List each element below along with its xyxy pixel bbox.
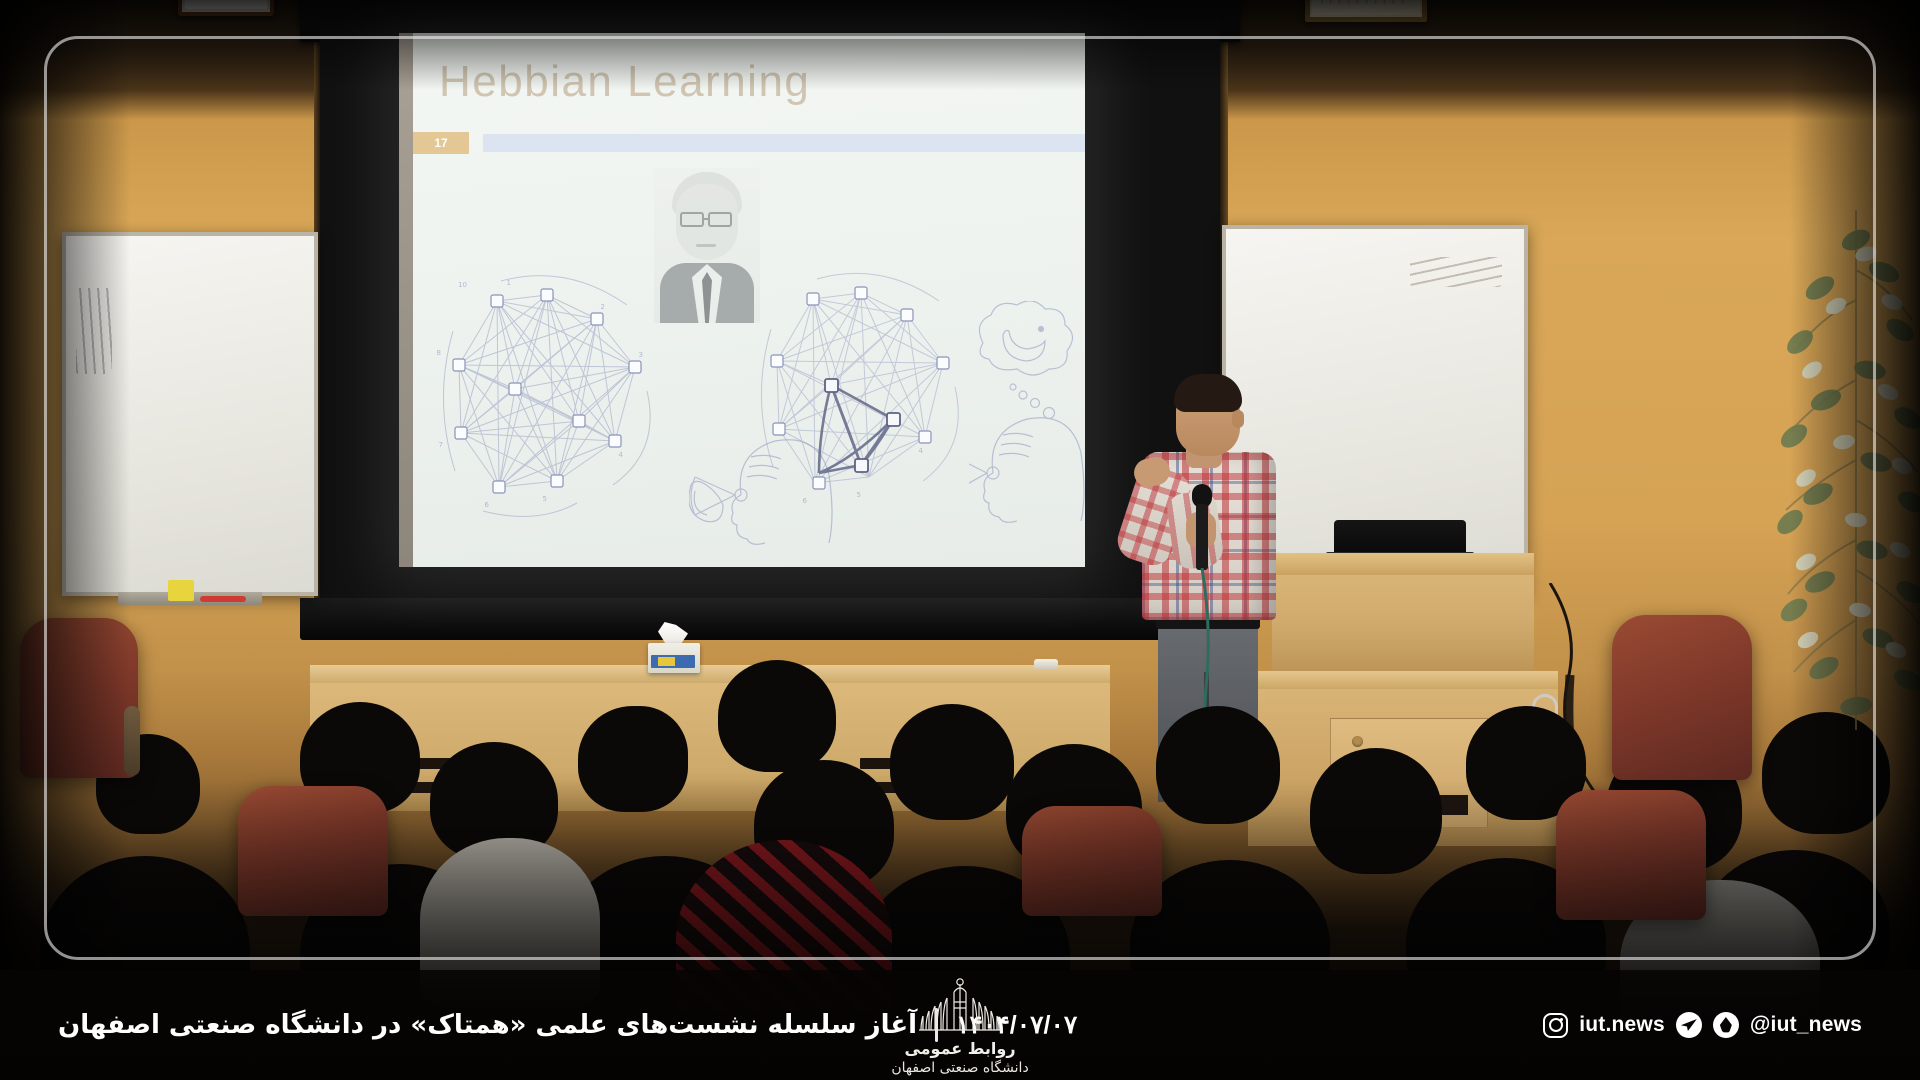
whiteboard-eraser bbox=[168, 580, 194, 601]
iut-monument-icon bbox=[899, 978, 1021, 1036]
slide-diagram-right-thought bbox=[969, 301, 1085, 561]
bale-icon[interactable] bbox=[1713, 1012, 1739, 1038]
svg-text:5: 5 bbox=[543, 495, 547, 503]
portrait-mouth bbox=[696, 244, 716, 247]
projector-screen-bottom-bar bbox=[300, 598, 1240, 640]
slide-number-badge: 17 bbox=[413, 132, 469, 154]
svg-text:6: 6 bbox=[485, 501, 490, 509]
presenter-hair bbox=[1174, 374, 1242, 412]
desk-cup bbox=[1034, 659, 1058, 669]
instagram-icon[interactable] bbox=[1543, 1013, 1568, 1038]
seat-back-right bbox=[1612, 615, 1752, 780]
slide-accent-rule bbox=[483, 134, 1085, 152]
vignette-top bbox=[0, 0, 1920, 90]
tissue-box-label bbox=[658, 657, 675, 666]
whiteboard-right-writing bbox=[1410, 257, 1502, 287]
portrait-glasses-bridge bbox=[703, 218, 710, 220]
event-photograph: 7 0 5 Hebbian Learning 17 bbox=[0, 0, 1920, 1080]
logo-line-1: روابط عمومی bbox=[904, 1039, 1015, 1058]
svg-text:4: 4 bbox=[619, 451, 624, 459]
svg-text:7: 7 bbox=[439, 441, 443, 449]
public-relations-logo: روابط عمومی دانشگاه صنعتی اصفهان bbox=[855, 968, 1065, 1076]
portrait-glasses-right bbox=[708, 212, 732, 227]
presentation-slide: Hebbian Learning 17 bbox=[399, 33, 1085, 567]
slide-sidebar-strip bbox=[399, 33, 413, 567]
instagram-handle[interactable]: iut.news bbox=[1579, 1013, 1665, 1037]
microphone-body bbox=[1196, 504, 1208, 570]
telegram-icon[interactable] bbox=[1676, 1012, 1702, 1038]
caption-headline: آغاز سلسله نشست‌های علمی «همتاک» در دانش… bbox=[58, 1010, 917, 1040]
whiteboard-marker bbox=[200, 596, 246, 602]
svg-text:1: 1 bbox=[507, 279, 511, 287]
social-handles-group: iut.news @iut_news bbox=[1543, 970, 1862, 1080]
presenter-ear bbox=[1232, 410, 1244, 428]
svg-text:3: 3 bbox=[639, 351, 643, 359]
telegram-bale-handle[interactable]: @iut_news bbox=[1750, 1013, 1862, 1037]
logo-line-2: دانشگاه صنعتی اصفهان bbox=[891, 1060, 1028, 1076]
audience-member bbox=[718, 660, 836, 772]
lectern-knob bbox=[1352, 736, 1363, 747]
laptop-on-lectern bbox=[1334, 520, 1466, 556]
slide-number-row: 17 bbox=[413, 132, 1085, 154]
svg-text:2: 2 bbox=[601, 303, 605, 311]
caption-bar: ۱۴۰۴/۰۷/۰۷ آغاز سلسله نشست‌های علمی «همت… bbox=[0, 970, 1920, 1080]
slide-diagram-left-network: 123 456 7810 bbox=[437, 271, 717, 541]
svg-text:5: 5 bbox=[857, 491, 861, 499]
portrait-glasses-left bbox=[680, 212, 704, 227]
front-desk-top bbox=[310, 665, 1110, 683]
svg-text:4: 4 bbox=[919, 447, 924, 455]
svg-text:6: 6 bbox=[803, 497, 808, 505]
svg-text:8: 8 bbox=[437, 349, 441, 357]
screenshot-root: 7 0 5 Hebbian Learning 17 bbox=[0, 0, 1920, 1080]
svg-text:10: 10 bbox=[458, 281, 467, 289]
